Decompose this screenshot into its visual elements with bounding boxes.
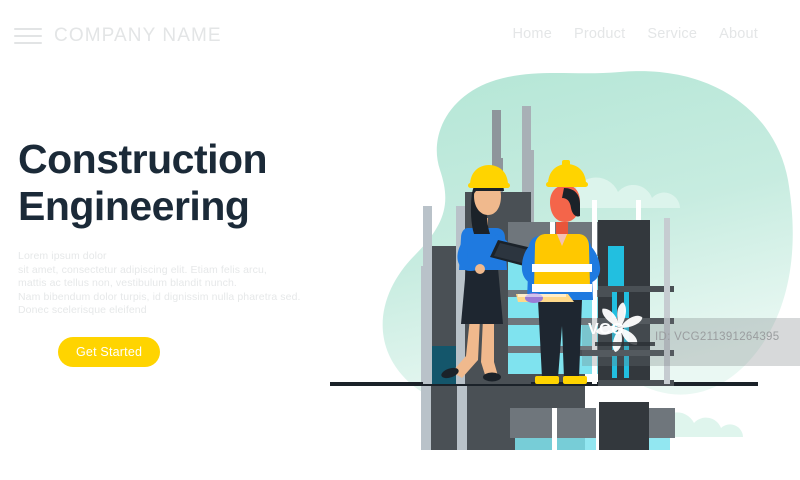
headline-line-2: Engineering <box>18 183 249 229</box>
construction-site-illustration <box>320 50 800 450</box>
vcg-watermark-text: VCG <box>588 321 624 339</box>
nav-item-product[interactable]: Product <box>574 26 625 42</box>
nav-item-service[interactable]: Service <box>647 26 697 42</box>
page-title: Construction Engineering <box>18 136 348 230</box>
landing-page: COMPANY NAME Home Product Service About … <box>0 0 800 480</box>
main-nav: Home Product Service About <box>512 26 758 42</box>
hero-body-text: Lorem ipsum dolor sit amet, consectetur … <box>18 250 348 318</box>
vcg-logo-bar <box>595 342 655 346</box>
hero-copy: Construction Engineering Lorem ipsum dol… <box>18 136 348 318</box>
brand-name: COMPANY NAME <box>54 25 222 47</box>
right-dark-tower <box>599 402 649 450</box>
nav-item-about[interactable]: About <box>719 26 758 42</box>
hamburger-icon[interactable] <box>14 28 42 44</box>
brand-block[interactable]: COMPANY NAME <box>14 25 222 47</box>
nav-item-home[interactable]: Home <box>512 26 551 42</box>
image-id-watermark: ID: VCG211391264395 <box>655 331 779 343</box>
headline-line-1: Construction <box>18 136 267 182</box>
get-started-button[interactable]: Get Started <box>58 337 160 367</box>
